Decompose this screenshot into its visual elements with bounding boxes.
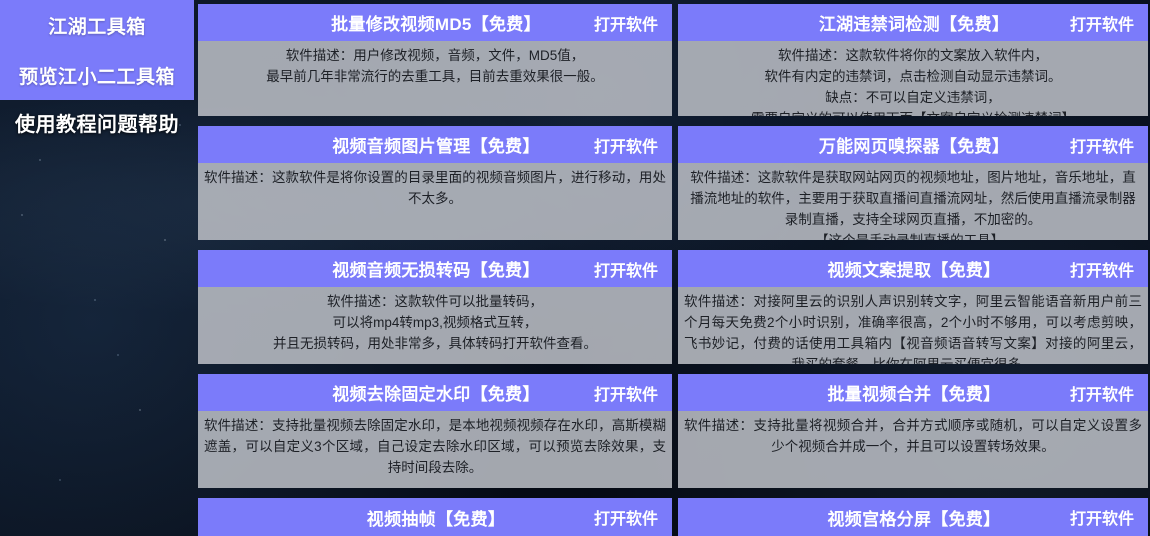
tool-card-title: 视频音频无损转码【免费】 <box>208 256 594 281</box>
tool-card-description: 软件描述：支持批量将视频合并，合并方式顺序或随机，可以自定义设置多少个视频合并成… <box>678 411 1148 488</box>
open-software-button[interactable]: 打开软件 <box>1070 381 1138 405</box>
sidebar-item-help[interactable]: 使用教程问题帮助 <box>0 100 194 144</box>
tool-card-description: 软件描述：用户修改视频，音频，文件，MD5值，最早前几年非常流行的去重工具，目前… <box>198 41 672 116</box>
tool-card-title: 江湖违禁词检测【免费】 <box>688 10 1070 35</box>
tool-card: 批量视频合并【免费】 打开软件 软件描述：支持批量将视频合并，合并方式顺序或随机… <box>676 370 1150 494</box>
sidebar: 江湖工具箱 预览江小二工具箱 使用教程问题帮助 <box>0 0 194 536</box>
tool-card-title: 视频去除固定水印【免费】 <box>208 380 594 405</box>
open-software-button[interactable]: 打开软件 <box>594 133 662 157</box>
open-software-button[interactable]: 打开软件 <box>594 505 662 529</box>
open-software-button[interactable]: 打开软件 <box>594 11 662 35</box>
tool-card-header: 批量修改视频MD5【免费】 打开软件 <box>198 4 672 41</box>
tool-card-grid: 批量修改视频MD5【免费】 打开软件 软件描述：用户修改视频，音频，文件，MD5… <box>196 0 1150 536</box>
tool-card-description: 软件描述：这款软件可以批量转码，可以将mp4转mp3,视频格式互转，并且无损转码… <box>198 287 672 364</box>
tool-card-title: 视频音频图片管理【免费】 <box>208 132 594 157</box>
tool-card-title: 视频宫格分屏【免费】 <box>688 505 1070 530</box>
sidebar-item-label: 使用教程问题帮助 <box>15 108 179 137</box>
tool-card-header: 万能网页嗅探器【免费】 打开软件 <box>678 126 1148 163</box>
tool-card-description: 软件描述：这款软件将你的文案放入软件内，软件有内定的违禁词，点击检测自动显示违禁… <box>678 41 1148 116</box>
tool-card: 视频音频无损转码【免费】 打开软件 软件描述：这款软件可以批量转码，可以将mp4… <box>196 246 674 370</box>
tool-card-header: 批量视频合并【免费】 打开软件 <box>678 374 1148 411</box>
tool-card: 江湖违禁词检测【免费】 打开软件 软件描述：这款软件将你的文案放入软件内，软件有… <box>676 0 1150 122</box>
sidebar-item-preview-toolbox[interactable]: 预览江小二工具箱 <box>0 50 194 100</box>
tool-card: 批量修改视频MD5【免费】 打开软件 软件描述：用户修改视频，音频，文件，MD5… <box>196 0 674 122</box>
sidebar-accent-panel: 江湖工具箱 预览江小二工具箱 <box>0 0 194 100</box>
tool-card-header: 视频文案提取【免费】 打开软件 <box>678 250 1148 287</box>
tool-card-description: 软件描述：对接阿里云的识别人声识别转文字，阿里云智能语音新用户前三个月每天免费2… <box>678 287 1148 364</box>
tool-card-header: 视频音频无损转码【免费】 打开软件 <box>198 250 672 287</box>
tool-card-description: 软件描述：这款软件是获取网站网页的视频地址，图片地址，音乐地址，直播流地址的软件… <box>678 163 1148 240</box>
tool-card-description: 软件描述：这款软件是将你设置的目录里面的视频音频图片，进行移动，用处不太多。 <box>198 163 672 240</box>
open-software-button[interactable]: 打开软件 <box>1070 133 1138 157</box>
tool-card-header: 视频抽帧【免费】 打开软件 <box>198 498 672 536</box>
tool-card-header: 视频宫格分屏【免费】 打开软件 <box>678 498 1148 536</box>
tool-card-header: 视频去除固定水印【免费】 打开软件 <box>198 374 672 411</box>
tool-card: 视频文案提取【免费】 打开软件 软件描述：对接阿里云的识别人声识别转文字，阿里云… <box>676 246 1150 370</box>
tool-card-title: 视频抽帧【免费】 <box>208 505 594 530</box>
tool-card-header: 江湖违禁词检测【免费】 打开软件 <box>678 4 1148 41</box>
tool-card-title: 万能网页嗅探器【免费】 <box>688 132 1070 157</box>
tool-card: 万能网页嗅探器【免费】 打开软件 软件描述：这款软件是获取网站网页的视频地址，图… <box>676 122 1150 246</box>
tool-card-title: 视频文案提取【免费】 <box>688 256 1070 281</box>
tool-card-description: 软件描述：支持批量视频去除固定水印，是本地视频视频存在水印，高斯模糊遮盖，可以自… <box>198 411 672 488</box>
tool-card: 视频宫格分屏【免费】 打开软件 <box>676 494 1150 536</box>
tool-card-title: 批量修改视频MD5【免费】 <box>208 10 594 35</box>
tool-card-title: 批量视频合并【免费】 <box>688 380 1070 405</box>
sidebar-item-label: 江湖工具箱 <box>48 12 146 39</box>
open-software-button[interactable]: 打开软件 <box>1070 505 1138 529</box>
tool-card: 视频音频图片管理【免费】 打开软件 软件描述：这款软件是将你设置的目录里面的视频… <box>196 122 674 246</box>
tool-card: 视频抽帧【免费】 打开软件 <box>196 494 674 536</box>
open-software-button[interactable]: 打开软件 <box>594 257 662 281</box>
tool-card-header: 视频音频图片管理【免费】 打开软件 <box>198 126 672 163</box>
open-software-button[interactable]: 打开软件 <box>1070 257 1138 281</box>
sidebar-item-label: 预览江小二工具箱 <box>19 62 175 89</box>
tool-card: 视频去除固定水印【免费】 打开软件 软件描述：支持批量视频去除固定水印，是本地视… <box>196 370 674 494</box>
open-software-button[interactable]: 打开软件 <box>1070 11 1138 35</box>
sidebar-item-toolbox[interactable]: 江湖工具箱 <box>0 0 194 50</box>
open-software-button[interactable]: 打开软件 <box>594 381 662 405</box>
